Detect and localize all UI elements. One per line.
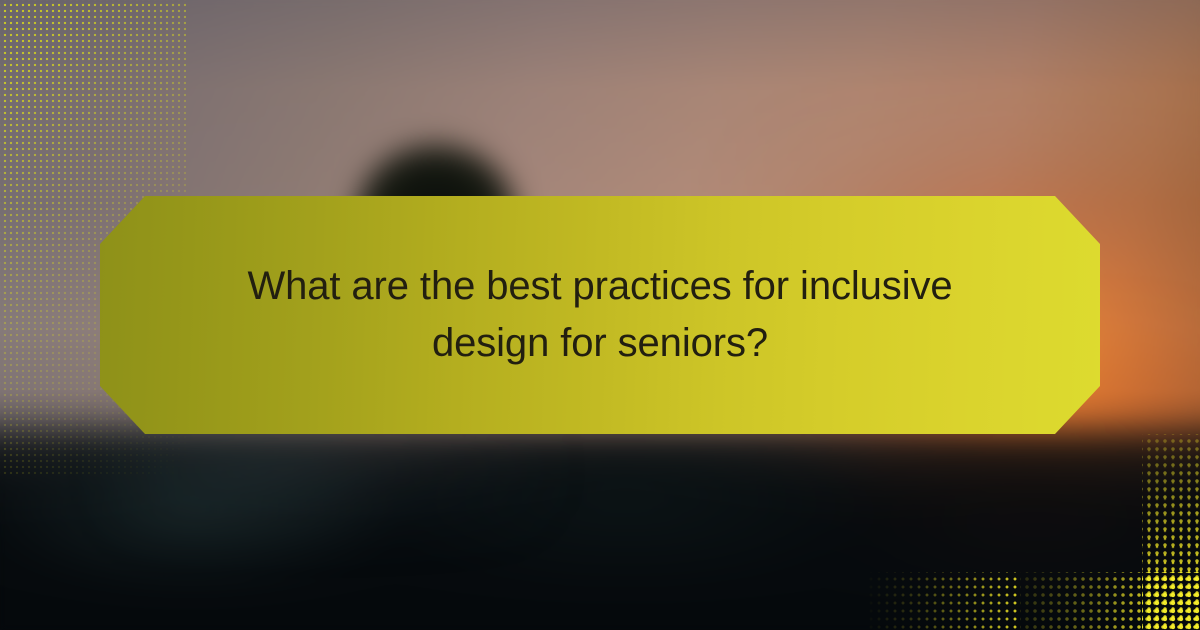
question-banner: What are the best practices for inclusiv… — [100, 196, 1100, 434]
banner-title: What are the best practices for inclusiv… — [200, 258, 1000, 372]
social-card: What are the best practices for inclusiv… — [0, 0, 1200, 630]
